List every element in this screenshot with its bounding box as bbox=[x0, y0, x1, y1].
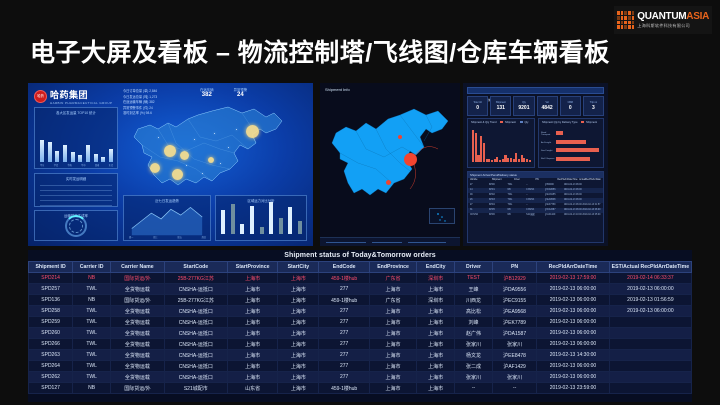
table-row[interactable]: SPD262TWL全货物运载CNSHA-运抵口上海市上海市277上海市上海市张家… bbox=[29, 372, 692, 383]
axis-tick: 西南 bbox=[95, 163, 99, 167]
table-cell: SPD260 bbox=[29, 328, 73, 339]
legend-label: Qty bbox=[524, 121, 528, 124]
column-header[interactable]: Carrier ID bbox=[73, 262, 111, 273]
table-row[interactable]: SPD259TWL全货物运载CNSHA-运抵口上海市上海市277上海市上海市刘峰… bbox=[29, 317, 692, 328]
mini-table-cell: CNSHA bbox=[470, 213, 489, 218]
table-cell: 上海市 bbox=[278, 339, 319, 350]
table-cell: CNSHA-运抵口 bbox=[164, 350, 227, 361]
table-cell bbox=[609, 350, 691, 361]
table-cell: SPD136 bbox=[29, 295, 73, 306]
table-cell: CNSHA-运抵口 bbox=[164, 284, 227, 295]
metric-in-transit: 在途车辆 382 bbox=[200, 87, 214, 98]
table-cell: TWL bbox=[73, 372, 111, 383]
vertical-bar-series bbox=[472, 129, 531, 162]
table-row[interactable]: SPD266TWL全货物运载CNSHA-运抵口上海市上海市277上海市上海市张家… bbox=[29, 339, 692, 350]
map-hotspot-minor bbox=[398, 135, 402, 139]
table-cell: 277 bbox=[319, 328, 370, 339]
board1-brand-sub: HARBIN PHARMACEUTICAL GROUP bbox=[50, 101, 112, 105]
horizontal-bar-series bbox=[556, 129, 599, 163]
kpi-label: CBM bbox=[568, 101, 573, 104]
table-cell: 沪EK7789 bbox=[492, 317, 536, 328]
table-cell: SPD257 bbox=[29, 284, 73, 295]
table-cell: TEST bbox=[455, 273, 493, 284]
table-cell: SPD127 bbox=[29, 383, 73, 394]
map-hotspot bbox=[208, 157, 214, 163]
legend-swatch-qty bbox=[520, 121, 523, 123]
kpi-value: 0 bbox=[569, 105, 572, 111]
south-sea-islands-inset bbox=[429, 208, 455, 224]
table-cell: 277 bbox=[319, 284, 370, 295]
legend-label: Shipment bbox=[505, 121, 516, 124]
table-cell: 全货物运载 bbox=[111, 317, 165, 328]
logo-subtitle: 上海科斯软件科技有限公司 bbox=[637, 24, 709, 28]
table-cell: CNSHA-运抵口 bbox=[164, 372, 227, 383]
mix-bar-series bbox=[221, 196, 302, 234]
mini-table-row[interactable]: CNSHASPD6NBS21城配沪AF14292019-02-13 10:002… bbox=[468, 213, 603, 218]
table-cell: TWL bbox=[73, 328, 111, 339]
table-cell: 上海市 bbox=[278, 372, 319, 383]
company-logo: QUANTUMASIA 上海科斯软件科技有限公司 bbox=[614, 6, 712, 34]
table-row[interactable]: SPD263TWL全货物运载CNSHA-运抵口上海市上海市277上海市上海市杨文… bbox=[29, 350, 692, 361]
metric-value: 24 bbox=[234, 92, 248, 98]
board1-brand-header: 哈药 哈药集团 HARBIN PHARMACEUTICAL GROUP bbox=[34, 88, 112, 105]
table-cell: 2019-02-13 06:00:00 bbox=[537, 328, 610, 339]
table-cell: 全货物运载 bbox=[111, 328, 165, 339]
table-cell: 277 bbox=[319, 361, 370, 372]
table-cell bbox=[609, 372, 691, 383]
table-cell bbox=[609, 339, 691, 350]
table-cell: TWL bbox=[73, 361, 111, 372]
table-cell: 459-1楼hub bbox=[319, 295, 370, 306]
table-row[interactable]: SPD260TWL全货物运载CNSHA-运抵口上海市上海市277上海市上海市赵广… bbox=[29, 328, 692, 339]
table-cell: 上海市 bbox=[278, 328, 319, 339]
table-cell: 2019-02-14 06:33:37 bbox=[609, 273, 691, 284]
category-label: Air Freight bbox=[541, 142, 556, 144]
map-hotspot bbox=[246, 125, 259, 138]
table-cell: 深圳市 bbox=[417, 273, 455, 284]
table-cell: NB bbox=[73, 273, 111, 284]
flight-line-map-board: Shipment Info bbox=[320, 83, 460, 246]
warehouse-vehicle-board: 车辆/仓库实时看板 Tote Intl 0 Shipment 131 Qty 9… bbox=[463, 83, 608, 246]
kpi-value: 4842 bbox=[542, 105, 553, 111]
table-cell: NB bbox=[73, 383, 111, 394]
board3-kpi-cards: Tote Intl 0 Shipment 131 Qty 9201 Vol 48… bbox=[467, 96, 604, 116]
table-row[interactable]: SPD214NB国际货运/外25B-277KG江苏上海市上海市459-1楼hub… bbox=[29, 273, 692, 284]
column-header[interactable]: StartCity bbox=[278, 262, 319, 273]
table-cell: 2019-02-13 14:30:00 bbox=[537, 350, 610, 361]
board3-trend-chart: Shipment & Qty Trend Shipment Qty bbox=[467, 118, 535, 168]
table-cell: 上海市 bbox=[369, 350, 416, 361]
mini-table-cell: SPD6 bbox=[489, 213, 508, 218]
board2-title: Shipment Info bbox=[325, 87, 350, 92]
table-cell: 上海市 bbox=[227, 350, 278, 361]
dashboard-screenshots: 哈药 哈药集团 HARBIN PHARMACEUTICAL GROUP 今日订单… bbox=[28, 83, 608, 248]
table-cell: 上海市 bbox=[369, 361, 416, 372]
column-header[interactable]: PN bbox=[492, 262, 536, 273]
table-cell: TWL bbox=[73, 317, 111, 328]
legend-swatch-shipment bbox=[500, 121, 503, 123]
mini-table-cell: S21城配 bbox=[526, 213, 545, 218]
table-cell: 459-1楼hub bbox=[319, 383, 370, 394]
table-cell: 张家川 bbox=[492, 339, 536, 350]
table-cell: 上海市 bbox=[417, 383, 455, 394]
table-cell: 沪EE8478 bbox=[492, 350, 536, 361]
kpi-card-tote-intl[interactable]: Tote Intl 0 bbox=[467, 96, 488, 116]
metric-value: 382 bbox=[200, 92, 214, 98]
board2-china-map bbox=[326, 97, 454, 215]
column-header[interactable]: EST/Actual RecPldArrDateTime bbox=[609, 262, 691, 273]
bar-axis-labels: 华东 华北 华南 华中 西南 东北 bbox=[40, 163, 113, 167]
table-cell: 277 bbox=[319, 317, 370, 328]
table-cell: 2019-02-13 06:00:00 bbox=[537, 284, 610, 295]
table-cell: 川西龙 bbox=[455, 295, 493, 306]
board1-trend-panel: 近七日发运趋势 周一 周三 周五 周日 bbox=[123, 195, 211, 241]
axis-tick: 华南 bbox=[67, 163, 71, 167]
table-caption: Shipment status of Today&Tomorrow orders bbox=[28, 250, 692, 261]
legend-swatch-shipment bbox=[581, 121, 584, 123]
table-row[interactable]: SPD127NB国际货运/外S21城配市山东省上海市459-1楼hub上海市上海… bbox=[29, 383, 692, 394]
table-cell: SPD264 bbox=[29, 361, 73, 372]
table-cell: 广东省 bbox=[369, 295, 416, 306]
logistics-control-tower-board: 哈药 哈药集团 HARBIN PHARMACEUTICAL GROUP 今日订单… bbox=[28, 83, 313, 246]
hbar-category-labels: Road Transport Air Freight Sea Freight R… bbox=[541, 129, 556, 163]
table-cell: 王峰 bbox=[455, 284, 493, 295]
table-cell: CNSHA-运抵口 bbox=[164, 328, 227, 339]
map-hotspot bbox=[164, 145, 176, 157]
table-cell: 上海市 bbox=[227, 372, 278, 383]
board1-gauge-panel: 运输时效达成率 bbox=[34, 210, 118, 241]
table-cell: 赵广伟 bbox=[455, 328, 493, 339]
table-cell: 沪B12929 bbox=[492, 273, 536, 284]
kpi-value: 3 bbox=[592, 105, 595, 111]
column-header[interactable]: Shipment ID bbox=[29, 262, 73, 273]
table-cell: 上海市 bbox=[417, 284, 455, 295]
detail-rows bbox=[35, 174, 117, 206]
table-cell: 上海市 bbox=[278, 306, 319, 317]
table-cell: 上海市 bbox=[417, 350, 455, 361]
table-cell: 广东省 bbox=[369, 273, 416, 284]
mini-table-cell: NB bbox=[507, 213, 526, 218]
shipment-status-table-panel: Shipment status of Today&Tomorrow orders… bbox=[28, 250, 692, 402]
table-cell: 2019-02-13 06:00:00 bbox=[537, 361, 610, 372]
table-row[interactable]: SPD257TWL全货物运载CNSHA-运抵口上海市上海市277上海市上海市王峰… bbox=[29, 284, 692, 295]
axis-tick: 周三 bbox=[153, 235, 157, 239]
table-row[interactable]: SPD264TWL全货物运载CNSHA-运抵口上海市上海市277上海市上海市张二… bbox=[29, 361, 692, 372]
table-cell: 全货物运载 bbox=[111, 339, 165, 350]
table-cell: 上海市 bbox=[369, 317, 416, 328]
table-cell bbox=[609, 361, 691, 372]
table-cell: 上海市 bbox=[227, 273, 278, 284]
china-map-shape-icon bbox=[124, 99, 306, 195]
table-cell: 深圳市 bbox=[417, 295, 455, 306]
kpi-label: Tote Intl bbox=[473, 101, 481, 104]
map-hotspot bbox=[180, 151, 189, 160]
table-cell: 277 bbox=[319, 339, 370, 350]
legend-label: Shipment bbox=[586, 121, 597, 124]
kpi-label: Shipment bbox=[496, 101, 506, 104]
board3-header-bar: 车辆/仓库实时看板 bbox=[467, 87, 604, 94]
mini-table-cell: 沪AF1429 bbox=[545, 213, 564, 218]
axis-tick: 周五 bbox=[177, 235, 181, 239]
table-cell: 杨文龙 bbox=[455, 350, 493, 361]
table-cell: 上海市 bbox=[417, 339, 455, 350]
table-cell: 上海市 bbox=[417, 328, 455, 339]
column-header[interactable]: RecPldArrDateTime bbox=[537, 262, 610, 273]
table-cell: 上海市 bbox=[227, 339, 278, 350]
table-cell: 张家川 bbox=[492, 372, 536, 383]
table-cell: 277 bbox=[319, 372, 370, 383]
axis-tick: 华东 bbox=[40, 163, 44, 167]
board1-top-metrics: 在途车辆 382 异常预警 24 bbox=[200, 87, 247, 98]
table-cell: TWL bbox=[73, 284, 111, 295]
table-cell: 全货物运载 bbox=[111, 372, 165, 383]
table-cell: 沪EC9155 bbox=[492, 295, 536, 306]
table-cell: 上海市 bbox=[417, 306, 455, 317]
table-cell: NB bbox=[73, 295, 111, 306]
table-cell: 上海市 bbox=[227, 361, 278, 372]
table-cell: 2019-02-13 17:59:00 bbox=[537, 273, 610, 284]
table-cell: CNSHA-运抵口 bbox=[164, 306, 227, 317]
table-cell: 2019-02-13 01:56:59 bbox=[609, 295, 691, 306]
column-header[interactable]: EndCode bbox=[319, 262, 370, 273]
table-cell: 上海市 bbox=[417, 317, 455, 328]
table-cell: SPD263 bbox=[29, 350, 73, 361]
axis-tick: 周一 bbox=[129, 235, 133, 239]
table-cell: 2019-02-13 23:59:00 bbox=[537, 383, 610, 394]
table-cell: 上海市 bbox=[417, 361, 455, 372]
table-cell: 2019-02-13 06:00:00 bbox=[537, 306, 610, 317]
table-cell: SPD262 bbox=[29, 372, 73, 383]
table-cell: 上海市 bbox=[278, 317, 319, 328]
table-cell: 上海市 bbox=[369, 383, 416, 394]
table-cell: 上海市 bbox=[369, 372, 416, 383]
gauge-inner-ring-icon bbox=[69, 219, 83, 233]
board1-brand-name: 哈药集团 bbox=[50, 88, 112, 101]
map-hotspot-minor bbox=[386, 180, 391, 185]
table-cell: 上海市 bbox=[417, 372, 455, 383]
table-cell: 高比松 bbox=[455, 306, 493, 317]
table-cell: -- bbox=[492, 383, 536, 394]
column-header[interactable]: EndProvince bbox=[369, 262, 416, 273]
kpi-label: Vol bbox=[545, 101, 548, 104]
column-header[interactable]: Driver bbox=[455, 262, 493, 273]
board1-detail-panel: 实时发运明细 bbox=[34, 173, 118, 207]
islands-icon bbox=[430, 209, 456, 225]
table-cell: 上海市 bbox=[369, 328, 416, 339]
table-cell: 上海市 bbox=[278, 273, 319, 284]
chart-title: Shipment Qty by Delivery Type bbox=[542, 121, 578, 124]
mini-table-cell: 2019-02-13 10:00 bbox=[564, 213, 583, 218]
kpi-card-shipment[interactable]: Shipment 131 bbox=[490, 96, 511, 116]
table-cell: SPD214 bbox=[29, 273, 73, 284]
table-cell: CNSHA-运抵口 bbox=[164, 317, 227, 328]
column-header[interactable]: StartCode bbox=[164, 262, 227, 273]
table-cell bbox=[609, 383, 691, 394]
logo-wordmark-accent: ASIA bbox=[686, 11, 709, 22]
area-chart bbox=[124, 196, 210, 240]
board1-bar-panel: 各大区发运量 TOP10 统计 华东 华北 华南 华中 西南 东北 bbox=[34, 107, 118, 169]
table-cell: 沪AF1429 bbox=[492, 361, 536, 372]
table-cell: 张家川 bbox=[455, 339, 493, 350]
table-cell: 上海市 bbox=[369, 284, 416, 295]
table-cell: 全货物运载 bbox=[111, 361, 165, 372]
logo-wordmark-primary: QUANTUM bbox=[637, 11, 686, 22]
table-cell bbox=[609, 328, 691, 339]
table-cell: TWL bbox=[73, 350, 111, 361]
table-cell: CNSHA-运抵口 bbox=[164, 361, 227, 372]
area-axis-labels: 周一 周三 周五 周日 bbox=[129, 235, 206, 239]
board1-capacity-panel: 区域运力对比分析 bbox=[215, 195, 307, 241]
kpi-label: Qty bbox=[522, 101, 526, 104]
company-seal-icon: 哈药 bbox=[34, 90, 47, 103]
table-cell: 上海市 bbox=[227, 284, 278, 295]
table-cell: 上海市 bbox=[278, 361, 319, 372]
table-cell: 全货物运载 bbox=[111, 306, 165, 317]
map-hotspot bbox=[150, 163, 160, 173]
category-label: Road Transport bbox=[541, 132, 556, 136]
logo-dot-grid-icon bbox=[617, 11, 634, 29]
china-map-shape-icon bbox=[326, 97, 454, 215]
table-cell: 国际货运/外 bbox=[111, 295, 165, 306]
table-cell: TWL bbox=[73, 339, 111, 350]
board2-progress-strip bbox=[320, 237, 460, 246]
board3-delivery-type-chart: Shipment Qty by Delivery Type Shipment R… bbox=[538, 118, 604, 168]
table-cell: SPD266 bbox=[29, 339, 73, 350]
panel-title: 各大区发运量 TOP10 统计 bbox=[35, 108, 117, 115]
board1-china-map bbox=[124, 99, 306, 195]
table-cell: SPD258 bbox=[29, 306, 73, 317]
kpi-label: Trip no bbox=[590, 101, 597, 104]
axis-tick: 周日 bbox=[202, 235, 206, 239]
table-cell: 2019-02-13 06:00:00 bbox=[609, 306, 691, 317]
table-cell: 刘峰 bbox=[455, 317, 493, 328]
table-cell: 全货物运载 bbox=[111, 284, 165, 295]
mini-table-cell: 2019-02-13 05:00 bbox=[582, 213, 601, 218]
table-cell: 2019-02-13 06:00:00 bbox=[609, 284, 691, 295]
chart-title: Shipment & Qty Trend bbox=[471, 121, 497, 124]
table-cell: 2019-02-13 06:00:00 bbox=[537, 372, 610, 383]
table-cell bbox=[609, 317, 691, 328]
table-cell: 国际货运/外 bbox=[111, 383, 165, 394]
table-cell: 上海市 bbox=[227, 317, 278, 328]
table-cell: 张家川 bbox=[455, 372, 493, 383]
mini-table-body: 27SPD0TWL--沪B00002019-02-13 06:0014SPD1N… bbox=[468, 183, 603, 218]
table-cell: 2019-02-13 06:00:00 bbox=[537, 295, 610, 306]
table-cell: 沪DA1587 bbox=[492, 328, 536, 339]
axis-tick: 东北 bbox=[109, 163, 113, 167]
map-hotspot bbox=[172, 169, 183, 180]
table-header-row: Shipment IDCarrier IDCarrier NameStartCo… bbox=[29, 262, 692, 273]
table-cell: 张二成 bbox=[455, 361, 493, 372]
table-cell: TWL bbox=[73, 306, 111, 317]
metric-alerts: 异常预警 24 bbox=[234, 87, 248, 98]
axis-tick: 华中 bbox=[81, 163, 85, 167]
map-hotspot-major bbox=[404, 153, 417, 166]
column-header[interactable]: Carrier Name bbox=[111, 262, 165, 273]
table-cell: 277 bbox=[319, 306, 370, 317]
page-title: 电子大屏及看板 – 物流控制塔/飞线图/仓库车辆看板 bbox=[30, 33, 610, 69]
table-cell: 25B-277KG江苏 bbox=[164, 273, 227, 284]
table-cell: 25B-277KG江苏 bbox=[164, 295, 227, 306]
table-row[interactable]: SPD258TWL全货物运载CNSHA-运抵口上海市上海市277上海市上海市高比… bbox=[29, 306, 692, 317]
table-body: SPD214NB国际货运/外25B-277KG江苏上海市上海市459-1楼hub… bbox=[29, 273, 692, 394]
kpi-card-cbm[interactable]: CBM 0 bbox=[560, 96, 581, 116]
table-cell: 上海市 bbox=[369, 339, 416, 350]
table-cell: 2019-02-13 06:00:00 bbox=[537, 317, 610, 328]
table-cell: 上海市 bbox=[369, 306, 416, 317]
category-label: Sea Freight bbox=[541, 150, 556, 152]
bar-series bbox=[40, 124, 113, 162]
kpi-value: 131 bbox=[497, 105, 505, 111]
kpi-value: 9201 bbox=[518, 105, 529, 111]
board3-mini-table: Shipment Arrival Pend/Delivery status Ve… bbox=[467, 171, 604, 243]
table-cell: 国际货运/外 bbox=[111, 273, 165, 284]
table-cell: 459-1楼hub bbox=[319, 273, 370, 284]
table-row[interactable]: SPD136NB国际货运/外25B-277KG江苏上海市上海市459-1楼hub… bbox=[29, 295, 692, 306]
table-cell: 山东省 bbox=[227, 383, 278, 394]
table-cell: SPD259 bbox=[29, 317, 73, 328]
table-cell: 上海市 bbox=[227, 306, 278, 317]
table-cell: 上海市 bbox=[278, 350, 319, 361]
kpi-value: 0 bbox=[476, 105, 479, 111]
table-cell: 2019-02-13 06:00:00 bbox=[537, 339, 610, 350]
kpi-card-qty[interactable]: Qty 9201 bbox=[513, 96, 534, 116]
table-cell: 上海市 bbox=[278, 295, 319, 306]
table-cell: 上海市 bbox=[227, 328, 278, 339]
table-cell: CNSHA-运抵口 bbox=[164, 339, 227, 350]
column-header[interactable]: StartProvince bbox=[227, 262, 278, 273]
table-cell: -- bbox=[455, 383, 493, 394]
table-cell: 全货物运载 bbox=[111, 350, 165, 361]
axis-tick: 华北 bbox=[54, 163, 58, 167]
category-label: Rail / Express bbox=[541, 158, 556, 160]
table-cell: 上海市 bbox=[278, 383, 319, 394]
table-cell: 277 bbox=[319, 350, 370, 361]
table-cell: S21城配市 bbox=[164, 383, 227, 394]
kpi-card-vol[interactable]: Vol 4842 bbox=[537, 96, 558, 116]
column-header[interactable]: EndCity bbox=[417, 262, 455, 273]
shipment-status-table: Shipment IDCarrier IDCarrier NameStartCo… bbox=[28, 261, 692, 394]
table-cell: 沪DA9556 bbox=[492, 284, 536, 295]
kpi-card-trip-no[interactable]: Trip no 3 bbox=[583, 96, 604, 116]
table-cell: 上海市 bbox=[227, 295, 278, 306]
table-cell: 上海市 bbox=[278, 284, 319, 295]
table-cell: 沪EA9568 bbox=[492, 306, 536, 317]
presentation-slide: QUANTUMASIA 上海科斯软件科技有限公司 电子大屏及看板 – 物流控制塔… bbox=[0, 0, 720, 405]
